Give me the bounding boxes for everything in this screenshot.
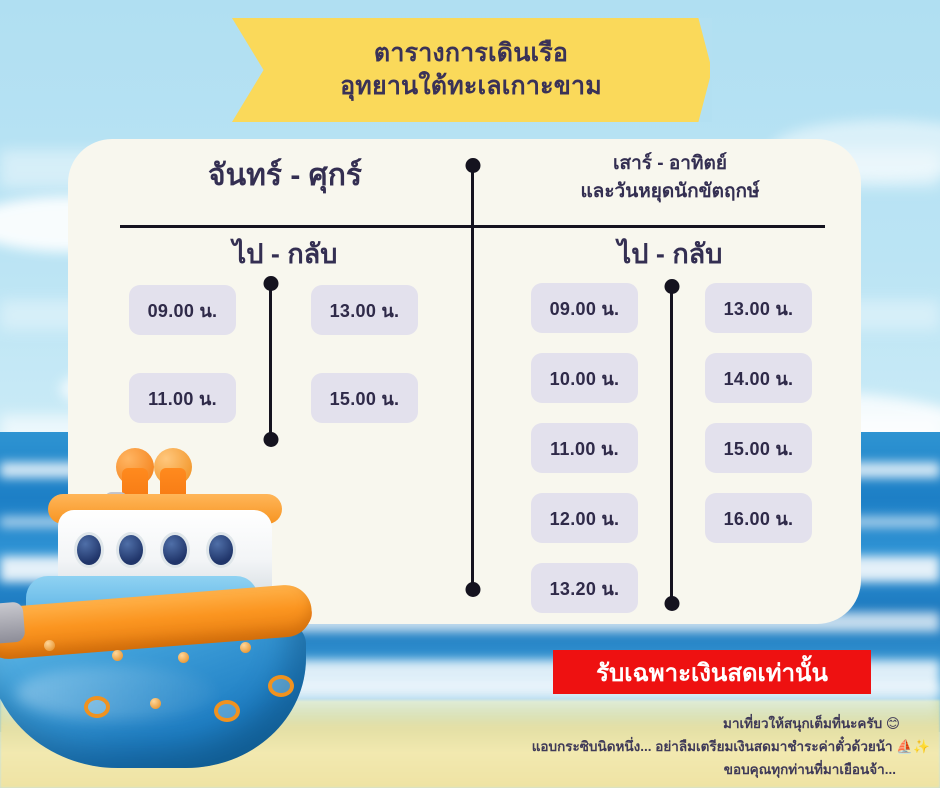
time-chip[interactable]: 15.00 น. <box>311 373 418 423</box>
porthole <box>206 532 236 568</box>
rail-end-cap <box>0 601 26 644</box>
weekend-subheader: ไป - กลับ <box>500 232 840 275</box>
hull-port-ring <box>268 675 294 697</box>
time-chip[interactable]: 09.00 น. <box>129 285 236 335</box>
infographic-canvas: ตารางการเดินเรือ อุทยานใต้ทะเลเกาะขาม จั… <box>0 0 940 788</box>
rivet <box>178 652 189 663</box>
weekend-header-line-1: เสาร์ - อาทิตย์ <box>500 150 840 178</box>
center-divider-line <box>471 166 474 590</box>
hull-port-ring <box>214 700 240 722</box>
time-chip[interactable]: 09.00 น. <box>531 283 638 333</box>
cash-only-banner: รับเฉพาะเงินสดเท่านั้น <box>553 650 871 694</box>
time-chip[interactable]: 15.00 น. <box>705 423 812 473</box>
porthole <box>74 532 104 568</box>
weekend-column-header: เสาร์ - อาทิตย์ และวันหยุดนักขัตฤกษ์ <box>500 150 840 205</box>
rivet <box>44 640 55 651</box>
hull-port-ring <box>84 696 110 718</box>
hull-highlight <box>16 666 216 720</box>
title-line-1: ตารางการเดินเรือ <box>374 38 568 70</box>
tugboat-illustration <box>0 470 332 788</box>
divider-rule-right <box>472 225 825 228</box>
rivet <box>112 650 123 661</box>
weekday-column-header: จันทร์ - ศุกร์ <box>120 152 450 199</box>
weekend-header-line-2: และวันหยุดนักขัตฤกษ์ <box>500 178 840 206</box>
time-chip[interactable]: 11.00 น. <box>531 423 638 473</box>
time-chip[interactable]: 14.00 น. <box>705 353 812 403</box>
time-chip[interactable]: 12.00 น. <box>531 493 638 543</box>
porthole <box>116 532 146 568</box>
weekday-divider-line <box>269 283 272 440</box>
time-chip[interactable]: 11.00 น. <box>129 373 236 423</box>
rivet <box>240 642 251 653</box>
time-chip[interactable]: 13.20 น. <box>531 563 638 613</box>
porthole <box>160 532 190 568</box>
weekend-divider-line <box>670 286 673 604</box>
footer-note: มาเที่ยวให้สนุกเต็มที่นะครับ 😊 แอบกระซิบ… <box>420 712 930 782</box>
time-chip[interactable]: 10.00 น. <box>531 353 638 403</box>
footer-line-1: มาเที่ยวให้สนุกเต็มที่นะครับ 😊 <box>420 712 930 735</box>
divider-rule-left <box>120 225 472 228</box>
footer-line-2: แอบกระซิบนิดหนึ่ง... อย่าลืมเตรียมเงินสด… <box>420 735 930 758</box>
title-line-2: อุทยานใต้ทะเลเกาะขาม <box>340 71 602 103</box>
rivet <box>150 698 161 709</box>
weekday-subheader: ไป - กลับ <box>120 232 450 275</box>
cash-only-label: รับเฉพาะเงินสดเท่านั้น <box>596 653 828 692</box>
footer-line-3: ขอบคุณทุกท่านที่มาเยือนจ้า... <box>420 758 930 781</box>
time-chip[interactable]: 13.00 น. <box>311 285 418 335</box>
title-ribbon-text: ตารางการเดินเรือ อุทยานใต้ทะเลเกาะขาม <box>232 18 710 122</box>
time-chip[interactable]: 16.00 น. <box>705 493 812 543</box>
time-chip[interactable]: 13.00 น. <box>705 283 812 333</box>
